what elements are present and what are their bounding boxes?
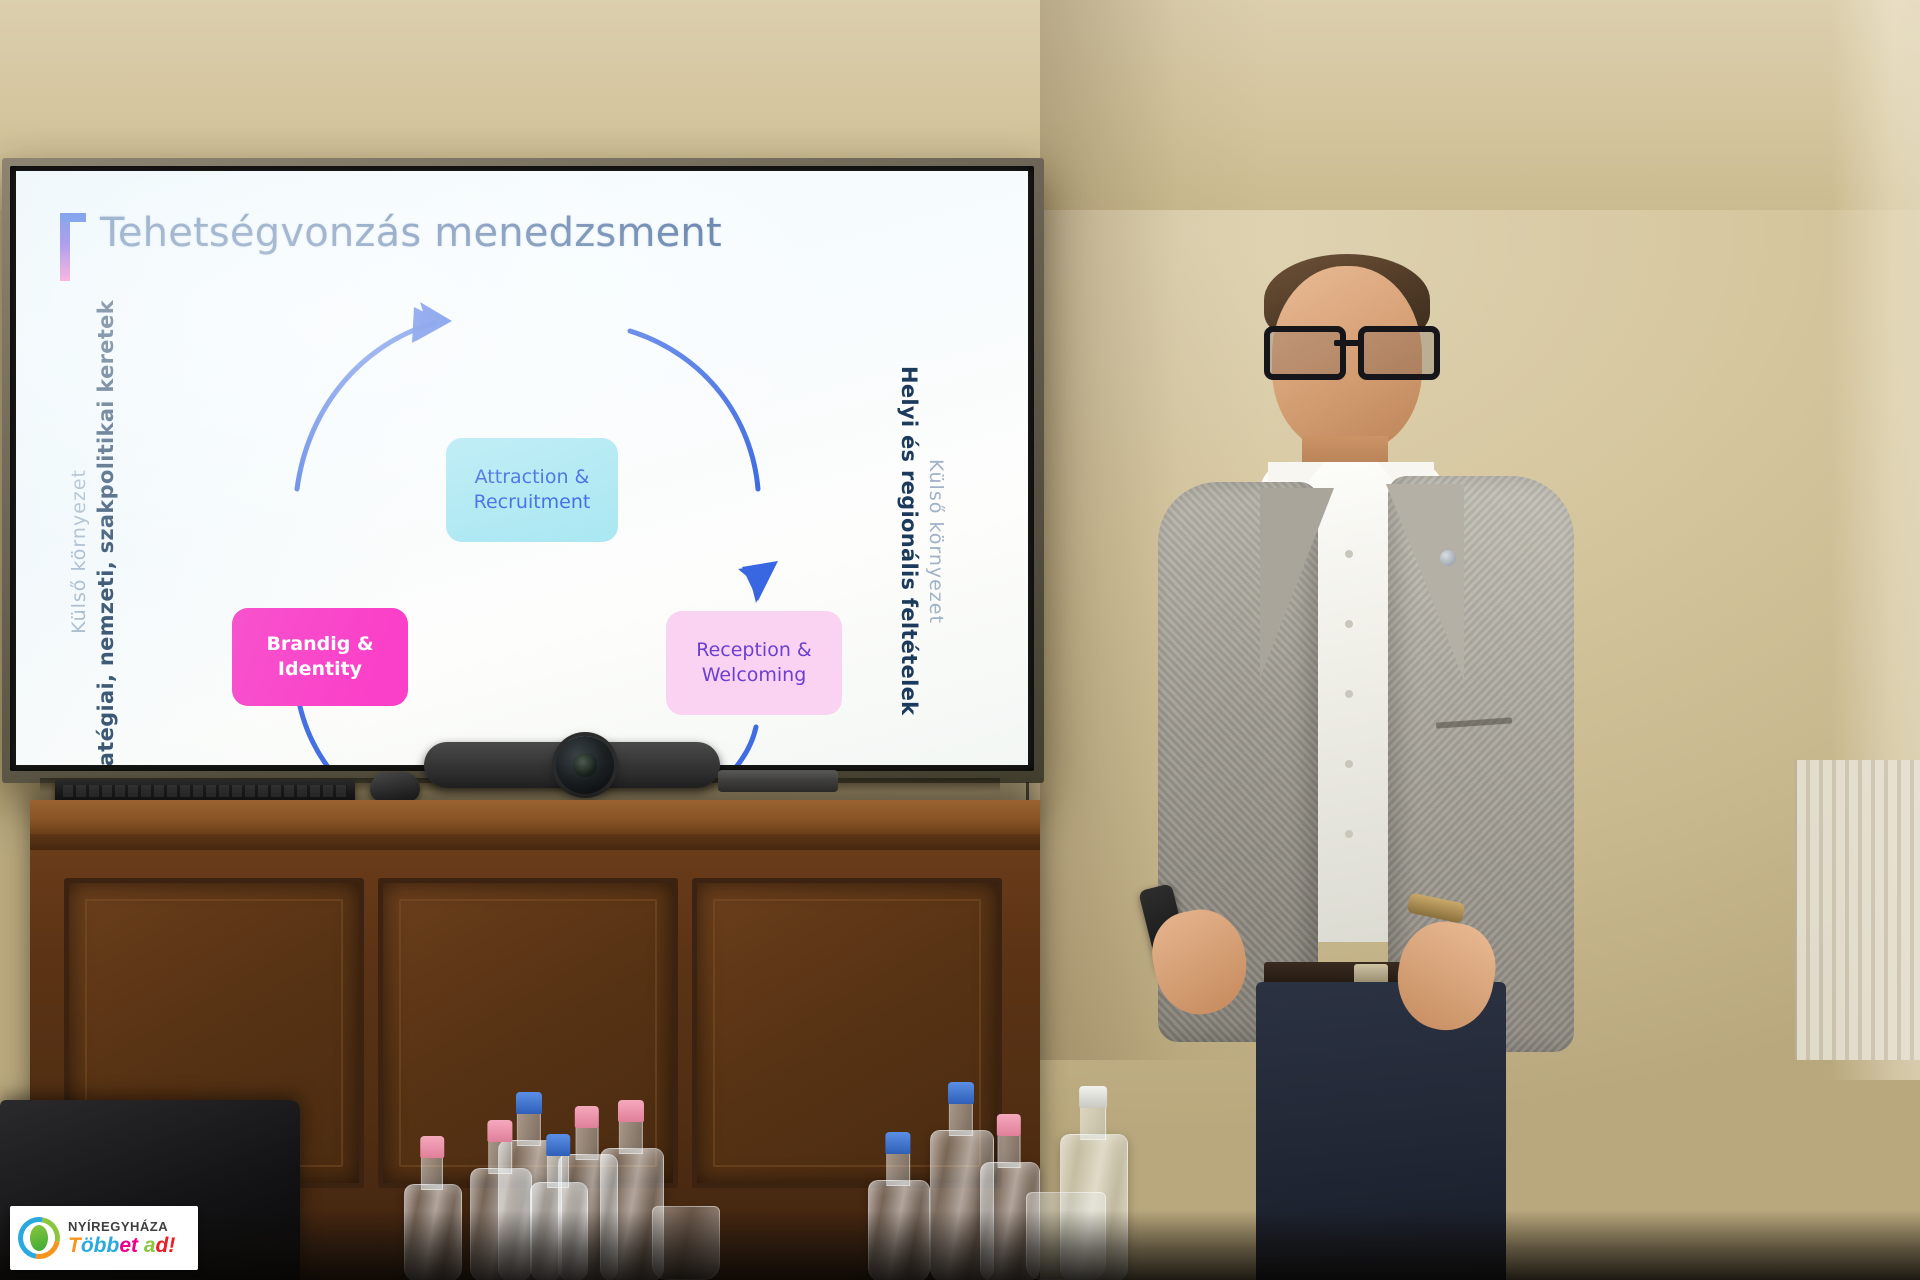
presentation-photo-scene: Tehetségvonzás menedzsment Külső környez…	[0, 0, 1920, 1280]
foreground-shadow	[0, 1210, 1920, 1280]
left-label-bold: Stratégiai, nemzeti, szakpolitikai keret…	[94, 300, 119, 765]
mouse	[370, 772, 420, 802]
tv-bezel: Tehetségvonzás menedzsment Külső környez…	[10, 166, 1034, 771]
cabinet-lip	[30, 834, 1040, 850]
cycle-box-attraction: Attraction & Recruitment	[446, 438, 618, 542]
jacket-lapel-right	[1386, 484, 1464, 680]
slide-title: Tehetségvonzás menedzsment	[100, 211, 722, 255]
webcam-icon	[556, 736, 614, 794]
right-context-labels: Helyi és regionális feltételek Külső kör…	[896, 361, 947, 721]
bracket-decoration-icon	[60, 213, 86, 281]
right-label-bold: Helyi és regionális feltételek	[896, 366, 921, 715]
cycle-box-attraction-line1: Attraction &	[474, 465, 591, 490]
left-label-light: Külső környezet	[68, 469, 90, 634]
right-label-light: Külső környezet	[925, 459, 947, 624]
cycle-box-branding-line2: Identity	[266, 657, 373, 682]
lapel-pin-icon	[1440, 550, 1456, 566]
cycle-box-reception-line1: Reception &	[696, 638, 811, 663]
tv-screen: Tehetségvonzás menedzsment Külső környez…	[16, 171, 1028, 765]
shirt-buttons	[1345, 550, 1351, 930]
watermark-slogan: Többet ad!	[68, 1235, 175, 1256]
slide-title-row: Tehetségvonzás menedzsment	[60, 211, 722, 281]
watermark-text: NYÍREGYHÁZA Többet ad!	[68, 1220, 175, 1256]
cabinet-top	[30, 800, 1040, 837]
cycle-box-reception-line2: Welcoming	[696, 663, 811, 688]
radiator	[1795, 760, 1920, 1060]
eyeglasses-icon	[1262, 326, 1434, 370]
nyiregyhaza-logo-icon	[16, 1215, 62, 1261]
television-display: Tehetségvonzás menedzsment Külső környez…	[2, 158, 1044, 783]
watermark-city-name: NYÍREGYHÁZA	[68, 1220, 175, 1233]
presentation-slide: Tehetségvonzás menedzsment Külső környez…	[16, 171, 1028, 765]
desk-device	[718, 770, 838, 792]
cycle-box-branding-line1: Brandig &	[266, 632, 373, 657]
cycle-box-attraction-line2: Recruitment	[474, 490, 591, 515]
cycle-box-branding: Brandig & Identity	[232, 608, 408, 706]
left-context-labels: Külső környezet Stratégiai, nemzeti, sza…	[68, 381, 119, 721]
watermark-logo: NYÍREGYHÁZA Többet ad!	[10, 1206, 198, 1270]
cycle-box-reception: Reception & Welcoming	[666, 611, 842, 715]
jacket-lapel-left	[1260, 488, 1334, 678]
